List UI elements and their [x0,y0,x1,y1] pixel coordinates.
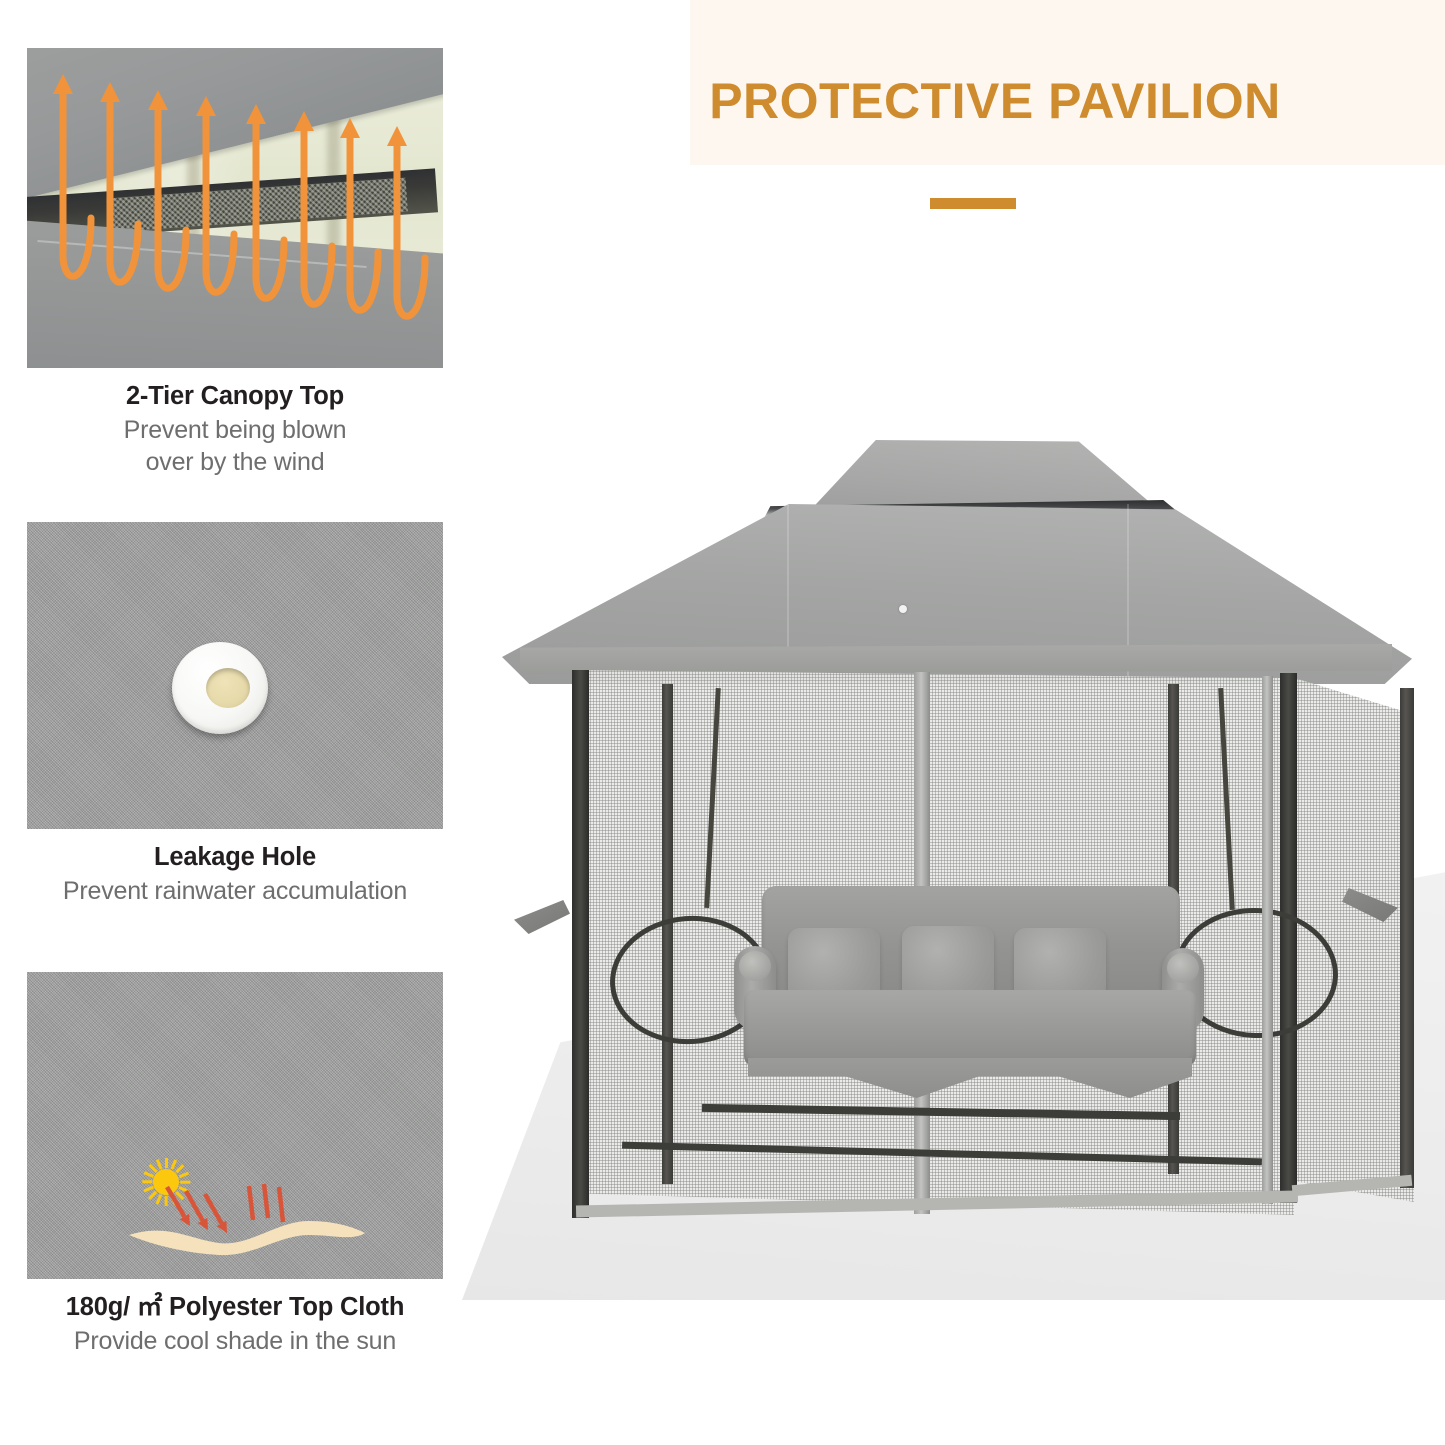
feature-title: 180g/ ㎡ Polyester Top Cloth [27,1291,443,1325]
gazebo-post-rear-right [1400,688,1414,1188]
infographic-root: PROTECTIVE PAVILION 2-Tier Canopy Top Pr… [0,0,1445,1445]
airflow-arrow [206,112,234,292]
feature-desc-line1: Prevent rainwater accumulation [27,875,443,908]
airflow-arrow [158,106,186,288]
swing-bench-seat [744,990,1196,1066]
airflow-arrow [304,127,332,304]
feature-card-polyester-cloth: 180g/ ㎡ Polyester Top Cloth Provide cool… [27,972,443,1357]
airflow-arrow [397,142,425,316]
title-divider [930,198,1016,209]
sun-rays-icon [27,972,443,1279]
airflow-arrows-icon [27,48,443,368]
feature-caption-polyester-cloth: 180g/ ㎡ Polyester Top Cloth Provide cool… [27,1279,443,1357]
feature-image-polyester-cloth [27,972,443,1279]
feature-title: 2-Tier Canopy Top [27,380,443,414]
airflow-arrowhead [246,104,266,124]
feature-image-leakage-hole [27,522,443,829]
airflow-arrow [256,120,284,298]
feature-caption-leakage-hole: Leakage Hole Prevent rainwater accumulat… [27,829,443,907]
feature-card-leakage-hole: Leakage Hole Prevent rainwater accumulat… [27,522,443,907]
airflow-arrowhead [100,82,120,102]
canopy-photo-scene [27,48,443,368]
airflow-arrowhead [196,96,216,116]
feature-title: Leakage Hole [27,841,443,875]
netting-zipper-right[interactable] [1262,676,1273,1204]
feature-desc-line1: Prevent being blown [27,414,443,447]
feature-caption-canopy: 2-Tier Canopy Top Prevent being blown ov… [27,368,443,479]
airflow-arrowhead [387,126,407,146]
sun-ray-reflected [264,1184,268,1218]
feature-desc-line2: over by the wind [27,446,443,479]
product-photo-gazebo-swing [462,408,1445,1308]
gazebo-post-front-left [572,670,589,1218]
feature-card-canopy: 2-Tier Canopy Top Prevent being blown ov… [27,48,443,479]
sun-ray-reflected [279,1187,283,1222]
canopy-valance [520,644,1392,674]
airflow-arrowhead [340,118,360,138]
sun-ray-incoming [167,1187,184,1217]
airflow-arrowhead [294,111,314,131]
grommet-hole-icon [206,668,250,708]
airflow-arrow [63,90,91,276]
curtain-tie-flap-left[interactable] [514,900,570,934]
sun-ray-incoming [205,1194,222,1223]
feature-image-canopy [27,48,443,368]
airflow-arrow [110,98,138,282]
page-title: PROTECTIVE PAVILION [645,72,1345,130]
airflow-arrowhead [53,74,73,94]
grommet-ring-icon [172,642,268,734]
gazebo-structure [462,408,1445,1308]
feature-desc-line1: Provide cool shade in the sun [27,1325,443,1358]
canopy-drain-hole-icon [899,605,907,613]
sun-ray-reflected [249,1186,253,1220]
airflow-arrowhead [148,90,168,110]
airflow-arrow [350,134,378,310]
